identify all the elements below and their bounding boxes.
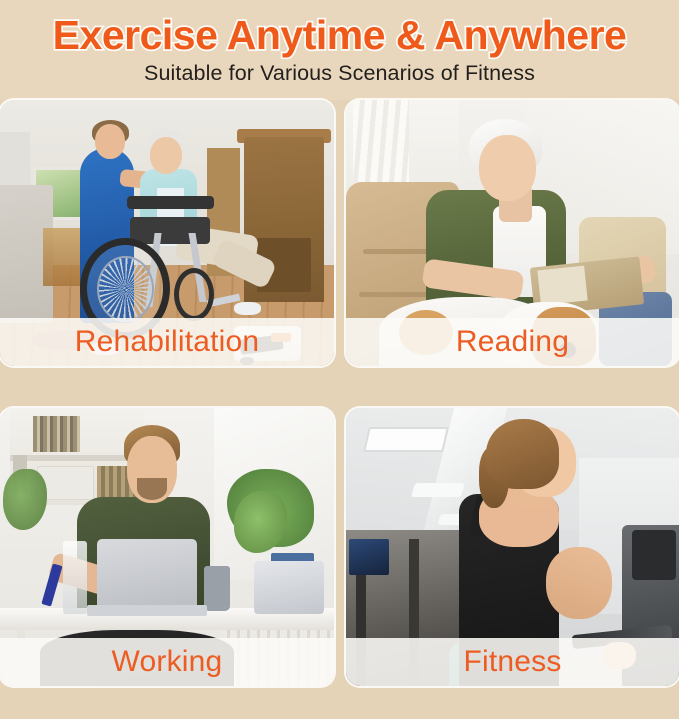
- scenario-label-working: Working: [112, 647, 223, 677]
- header-banner: Exercise Anytime & Anywhere Suitable for…: [0, 0, 679, 100]
- scenario-label-bar: Reading: [346, 318, 679, 366]
- scenario-cell-reading: Reading: [340, 100, 679, 388]
- scenario-card-fitness[interactable]: Fitness: [346, 408, 679, 686]
- scenario-cell-fitness: Fitness: [340, 388, 679, 719]
- scenario-card-rehabilitation[interactable]: Rehabilitation: [0, 100, 334, 366]
- scenario-cell-working: Working: [0, 388, 340, 719]
- scenario-label-bar: Working: [0, 638, 334, 686]
- scenario-card-working[interactable]: Working: [0, 408, 334, 686]
- scenario-label-rehabilitation: Rehabilitation: [75, 327, 260, 357]
- scenario-label-reading: Reading: [456, 327, 569, 357]
- page-title: Exercise Anytime & Anywhere: [53, 13, 627, 57]
- scenario-label-bar: Fitness: [346, 638, 679, 686]
- scenario-card-grid: Rehabilitation: [0, 100, 679, 719]
- scenario-card-reading[interactable]: Reading: [346, 100, 679, 366]
- scenario-label-fitness: Fitness: [463, 647, 561, 677]
- page-subtitle: Suitable for Various Scenarios of Fitnes…: [144, 61, 535, 86]
- scenario-label-bar: Rehabilitation: [0, 318, 334, 366]
- scenario-cell-rehabilitation: Rehabilitation: [0, 100, 340, 388]
